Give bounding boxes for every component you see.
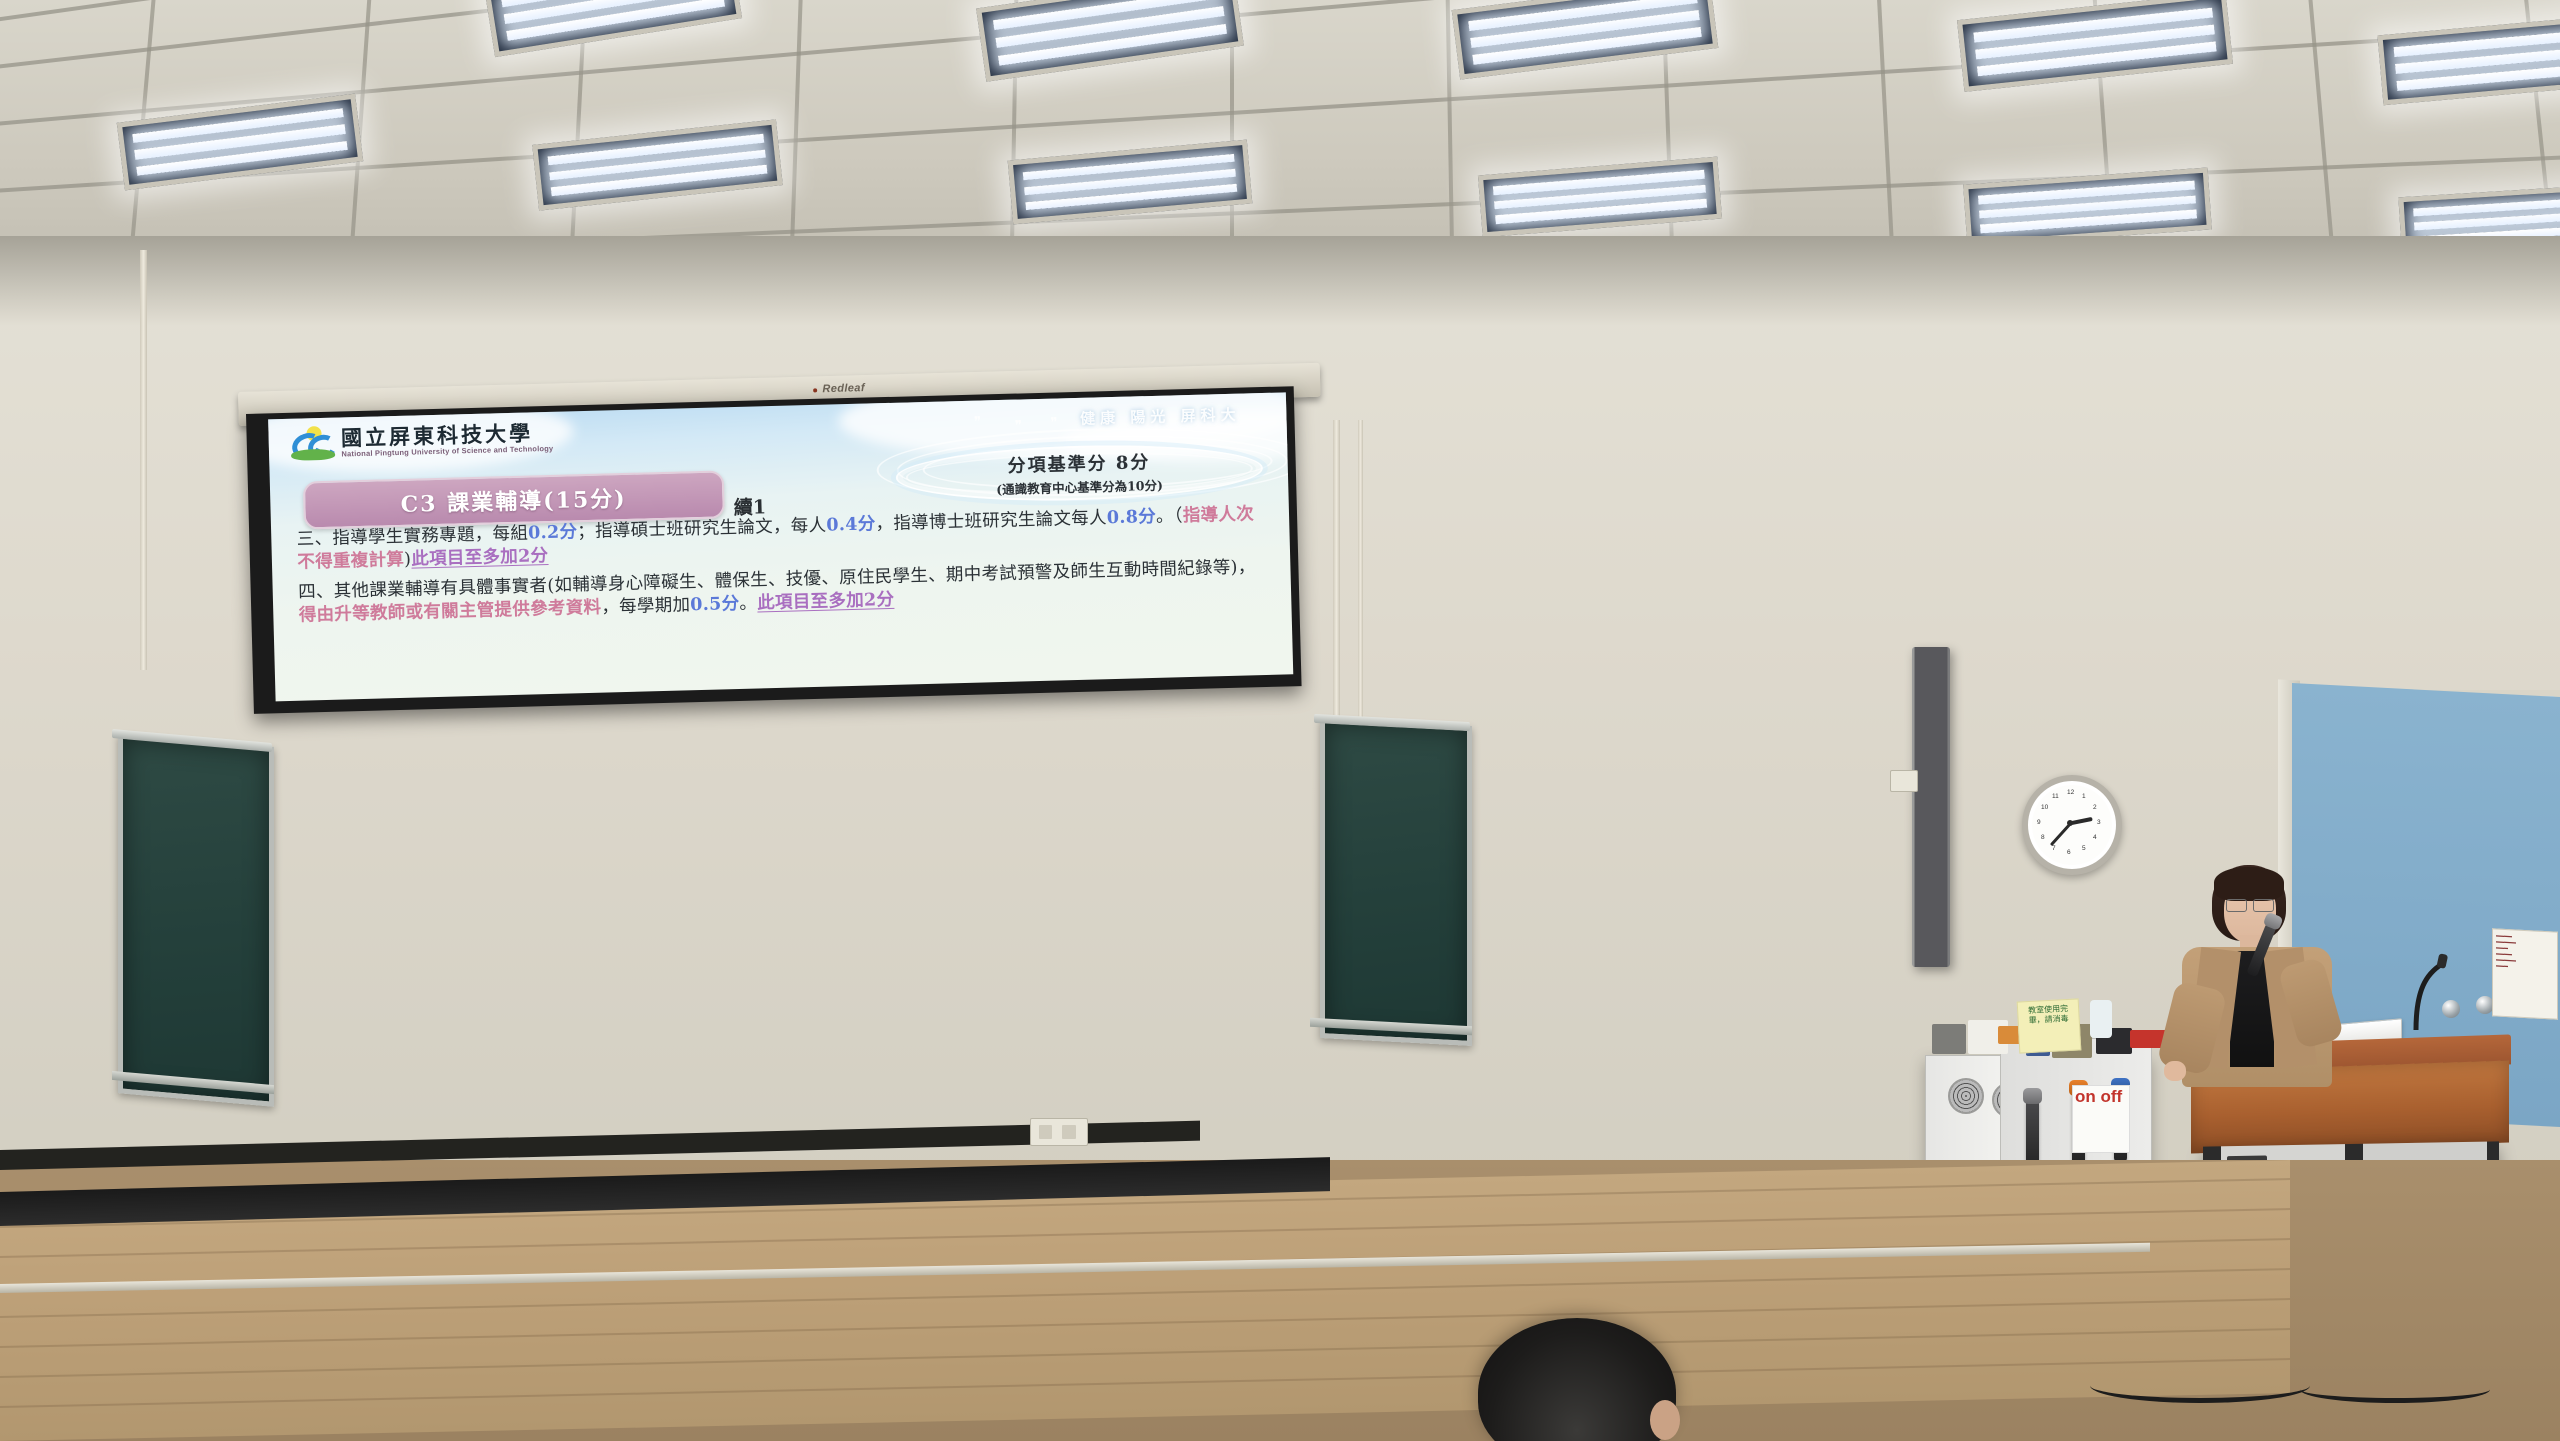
slide-standard-score-badge: 分項基準分 8分 (通識教育中心基準分為10分) bbox=[895, 441, 1263, 504]
screen-brand-label: Redleaf bbox=[822, 382, 865, 395]
presentation-slide: 國立屏東科技大學 National Pingtung University of… bbox=[268, 392, 1293, 701]
disinfect-notice-sign: 教室使用完畢，請消毒 bbox=[2017, 998, 2082, 1053]
ceiling-light bbox=[1478, 157, 1722, 238]
paragraph-marker: 四、 bbox=[298, 582, 334, 603]
bird-icon-1: ❞ bbox=[974, 413, 981, 429]
ceiling-light bbox=[1957, 0, 2233, 92]
slide-text-run: 0.2分 bbox=[528, 522, 578, 543]
paragraph-marker: 三、 bbox=[297, 529, 333, 550]
door-notice-poster: ▬▬▬▬▬▬▬▬▬▬▬▬▬▬▬▬▬▬▬▬▬▬▬▬ bbox=[2492, 928, 2558, 1019]
ceiling-light bbox=[484, 0, 742, 57]
stage-plank-line bbox=[0, 1268, 2290, 1318]
spray-bottle bbox=[2090, 1000, 2112, 1038]
clock-tick: 1 bbox=[2082, 793, 2086, 800]
cabinet-top-box-1 bbox=[1932, 1024, 1966, 1054]
npust-logo-mark bbox=[291, 426, 336, 461]
bird-icon-2: ❞ bbox=[1015, 418, 1022, 434]
clock-tick: 5 bbox=[2082, 845, 2086, 852]
slide-text-run: 得由升等教師或有關主管提供參考資料 bbox=[299, 598, 602, 626]
slide-text-run: 0.4分 bbox=[826, 514, 876, 535]
slide-text-run: ，指導博士班研究生論文每人 bbox=[875, 508, 1107, 534]
clock-center-pin bbox=[2067, 820, 2073, 826]
clock-tick: 8 bbox=[2041, 834, 2045, 841]
slide-title-text: C3 課業輔導(15分) bbox=[400, 481, 627, 519]
clock-tick: 9 bbox=[2037, 819, 2041, 826]
clock-tick: 7 bbox=[2052, 845, 2056, 852]
lecture-hall-photo: Redleaf 國立屏東科技大學 National Pingtung Unive… bbox=[0, 0, 2560, 1441]
slide-text-run: 0.5分 bbox=[690, 594, 740, 615]
slide-text-run: 。 bbox=[739, 594, 757, 614]
wall-top-shadow bbox=[0, 236, 2560, 326]
wall-seam-center-2 bbox=[1358, 420, 1363, 720]
bird-icon-3: ❞ bbox=[1050, 414, 1057, 430]
slide-text-run: 指導學生實務專題，每組 bbox=[332, 524, 528, 549]
wall-clock: 121234567891011 bbox=[2022, 775, 2122, 875]
clock-tick: 10 bbox=[2041, 804, 2048, 811]
glasses-icon bbox=[2226, 899, 2274, 910]
ceiling-light bbox=[976, 0, 1244, 82]
standard-score-main: 分項基準分 8分 bbox=[1007, 448, 1150, 478]
slide-university-logo: 國立屏東科技大學 National Pingtung University of… bbox=[291, 420, 554, 461]
gooseneck-microphone bbox=[2408, 940, 2468, 1028]
ceiling-light bbox=[532, 119, 783, 210]
clock-tick: 12 bbox=[2067, 789, 2074, 796]
slide-text-run: 0.8分 bbox=[1107, 507, 1157, 528]
clock-tick: 6 bbox=[2067, 849, 2071, 856]
blackboard-right bbox=[1320, 718, 1472, 1046]
slide-text-run: 。（ bbox=[1156, 506, 1183, 527]
projection-screen[interactable]: 國立屏東科技大學 National Pingtung University of… bbox=[246, 386, 1302, 714]
ceiling-light bbox=[2377, 13, 2560, 105]
clock-tick: 11 bbox=[2052, 793, 2059, 800]
presenter-speaking bbox=[2160, 865, 2350, 1165]
stage-plank-line bbox=[0, 1298, 2290, 1348]
slide-text-run: 此項目至多加2分 bbox=[411, 546, 549, 570]
presenter-left-hand bbox=[2164, 1061, 2186, 1081]
floor-cable-1 bbox=[2090, 1368, 2310, 1403]
wall-seam-left bbox=[140, 250, 147, 670]
cabinet-fan-1 bbox=[1948, 1078, 1984, 1114]
clock-tick: 2 bbox=[2093, 804, 2097, 811]
on-off-poster: on off bbox=[2072, 1085, 2130, 1153]
slide-text-run: ；指導碩士班研究生論文，每人 bbox=[577, 516, 827, 543]
stage-plank-line bbox=[0, 1328, 2290, 1378]
wall-speaker bbox=[1912, 647, 1950, 967]
wall-outlet-behind-speaker[interactable] bbox=[1890, 770, 1918, 792]
presenter-fringe bbox=[2214, 867, 2284, 901]
blackboard-left bbox=[118, 733, 274, 1107]
wall-outlet-1[interactable] bbox=[1030, 1118, 1088, 1146]
audience-member-ear bbox=[1650, 1400, 1680, 1440]
floor-cable-2 bbox=[2300, 1376, 2490, 1403]
slide-text-run: 此項目至多加2分 bbox=[757, 590, 895, 614]
slide-tagline: 健康 陽光 屏科大 bbox=[1080, 403, 1241, 428]
clock-tick: 4 bbox=[2093, 834, 2097, 841]
ceiling-light bbox=[1452, 0, 1719, 80]
slide-text-run: ，每學期加 bbox=[601, 596, 690, 618]
clock-hour-hand bbox=[2070, 817, 2092, 825]
clock-tick: 3 bbox=[2097, 819, 2101, 826]
